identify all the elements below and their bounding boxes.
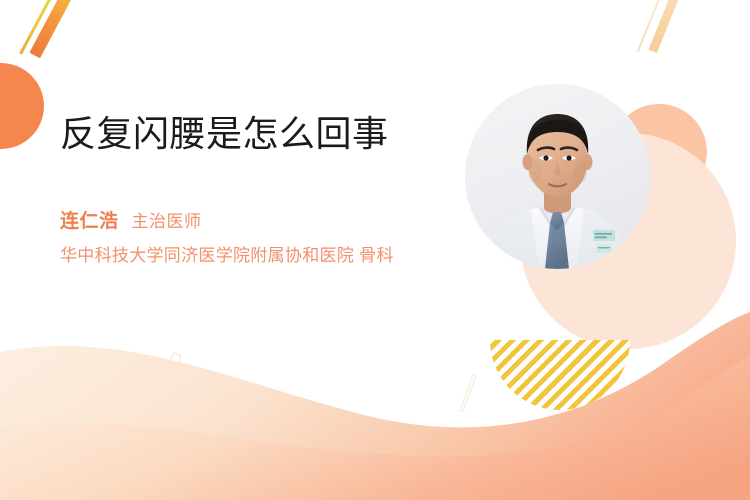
orange-circle-decor — [0, 63, 44, 149]
doctor-identity: 连仁浩 主治医师 — [60, 206, 460, 233]
diagonal-stripe-icon — [29, 0, 76, 58]
doctor-portrait-avatar — [465, 84, 650, 269]
doctor-intro-card: 反复闪腰是怎么回事 连仁浩 主治医师 华中科技大学同济医学院附属协和医院 骨科 — [0, 0, 750, 500]
doctor-name: 连仁浩 — [60, 206, 119, 233]
doctor-affiliation: 华中科技大学同济医学院附属协和医院 骨科 — [60, 244, 445, 269]
doctor-rank: 主治医师 — [132, 207, 202, 232]
card-content: 反复闪腰是怎么回事 连仁浩 主治医师 华中科技大学同济医学院附属协和医院 骨科 — [60, 112, 460, 269]
doctor-portrait-image — [465, 84, 650, 269]
wave-shape-front — [0, 310, 750, 500]
page-title: 反复闪腰是怎么回事 — [60, 112, 400, 156]
